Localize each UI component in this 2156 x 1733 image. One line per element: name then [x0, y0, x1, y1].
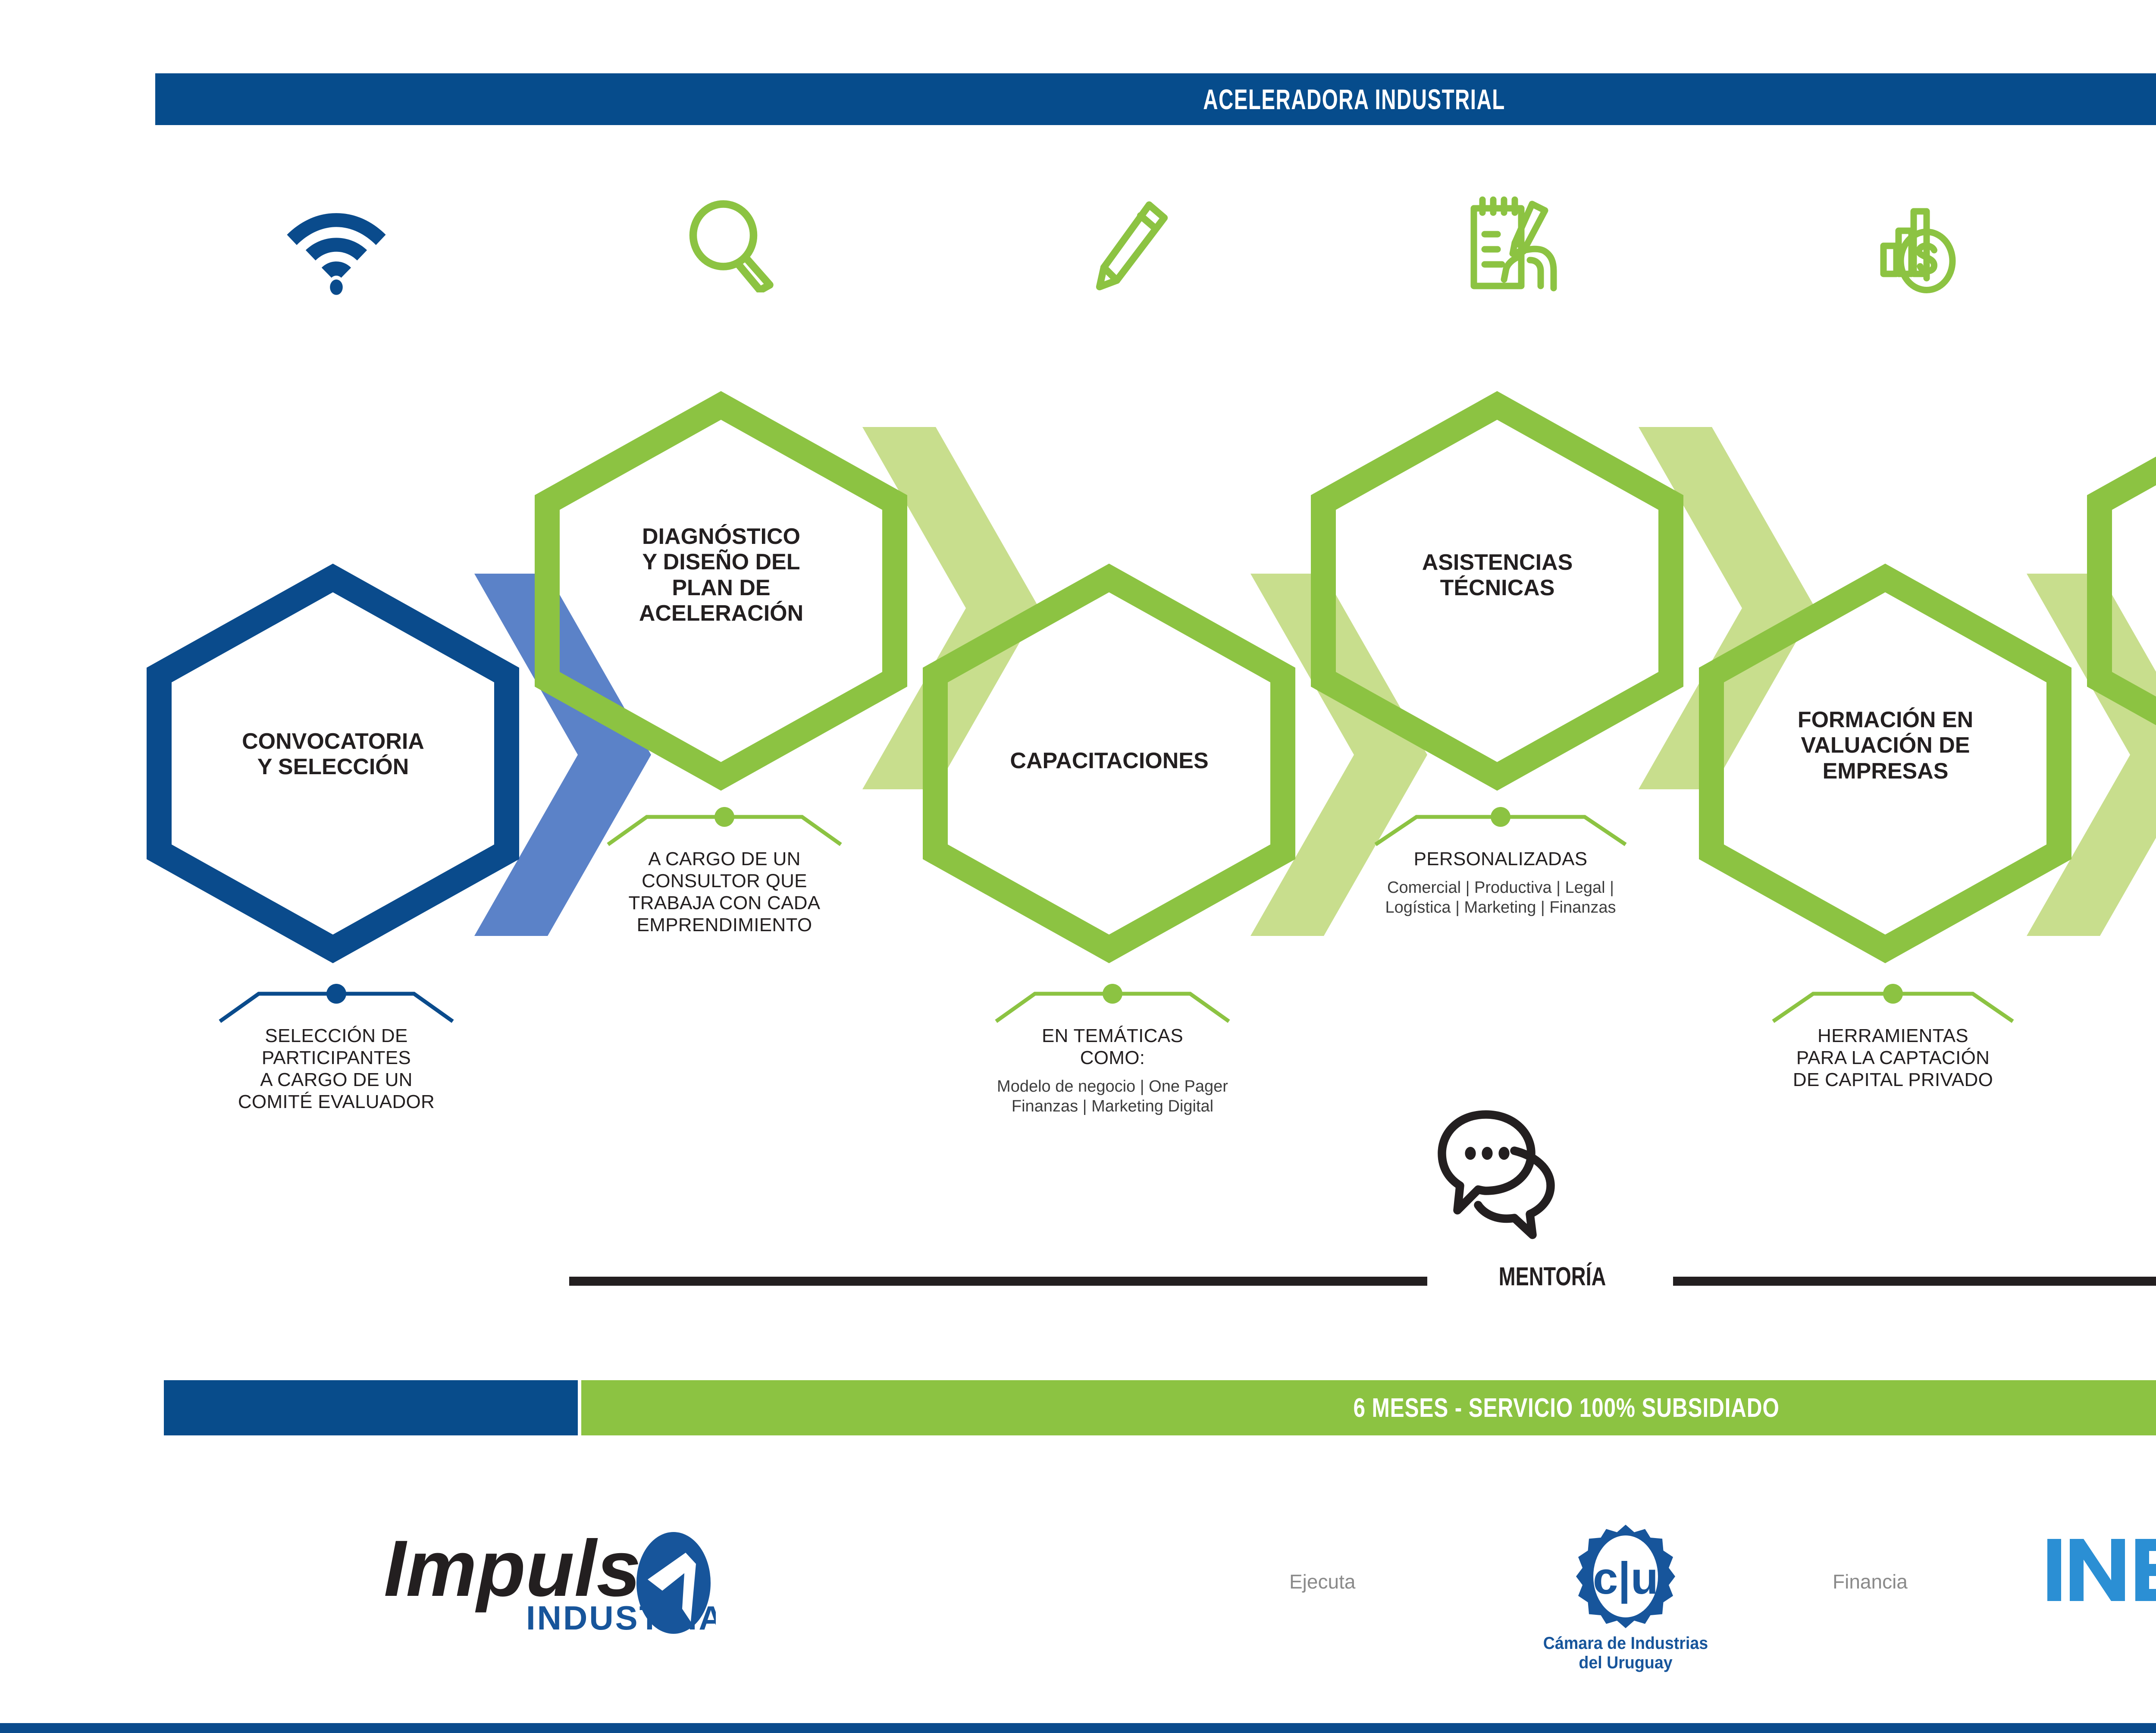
inefop-logo [2044, 1527, 2156, 1615]
mentoria-rule-left [569, 1277, 1427, 1286]
hex-step-convocatoria[interactable]: CONVOCATORIAY SELECCIÓN [153, 574, 513, 953]
caption-bracket-5 [1742, 988, 2044, 1022]
financia-label: Financia [1833, 1570, 1908, 1593]
ciu-logo: c|u Cámara de Industriasdel Uruguay [1492, 1523, 1759, 1673]
page-title: ACELERADORA INDUSTRIAL [1203, 83, 1505, 116]
banner-green-block: 6 MESES - SERVICIO 100% SUBSIDIADO [581, 1380, 2156, 1435]
hex-label-convocatoria: CONVOCATORIAY SELECCIÓN [153, 729, 513, 780]
hex-step-connection-day[interactable]: CONNECTIONDAY [2093, 401, 2156, 781]
caption-sub-4: Comercial | Productiva | Legal |Logístic… [1341, 878, 1660, 918]
hex-step-asistencias[interactable]: ASISTENCIASTÉCNICAS [1317, 401, 1677, 781]
hex-label-diagnostico: DIAGNÓSTICOY DISEÑO DELPLAN DEACELERACIÓ… [541, 524, 901, 626]
caption-connection-day: PRESENTACIÓNDE PITCHES YDIFUSIÓN DEONE P… [2130, 811, 2156, 936]
impulsa-logo: Impulsa INDUSTRIA [384, 1510, 716, 1650]
banner-text: 6 MESES - SERVICIO 100% SUBSIDIADO [1354, 1393, 1780, 1423]
banner-blue-block [164, 1380, 578, 1435]
caption-diagnostico: A CARGO DE UNCONSULTOR QUETRABAJA CON CA… [578, 811, 871, 936]
caption-bracket-2 [578, 811, 871, 845]
caption-bracket-4 [1341, 811, 1660, 845]
hex-label-capacitaciones: CAPACITACIONES [929, 748, 1289, 774]
header-bar: ACELERADORA INDUSTRIAL [155, 73, 2156, 125]
caption-title-6: PRESENTACIÓNDE PITCHES YDIFUSIÓN DEONE P… [2130, 848, 2156, 936]
pencil-icon [1056, 181, 1203, 311]
mentoria-section: MENTORÍA [569, 1104, 2156, 1328]
caption-title-1: SELECCIÓN DEPARTICIPANTESA CARGO DE UNCO… [190, 1025, 483, 1113]
hex-step-diagnostico[interactable]: DIAGNÓSTICOY DISEÑO DELPLAN DEACELERACIÓ… [541, 401, 901, 781]
caption-bracket-1 [190, 988, 483, 1022]
hex-label-connection-day: CONNECTIONDAY [2093, 550, 2156, 601]
caption-asistencias: PERSONALIZADAS Comercial | Productiva | … [1341, 811, 1660, 918]
ejecuta-label: Ejecuta [1289, 1570, 1355, 1593]
magnifier-icon [660, 181, 806, 311]
caption-bracket-3 [966, 988, 1259, 1022]
hex-step-capacitaciones[interactable]: CAPACITACIONES [929, 574, 1289, 953]
caption-capacitaciones: EN TEMÁTICASCOMO: Modelo de negocio | On… [966, 988, 1259, 1117]
caption-bracket-6 [2130, 811, 2156, 845]
wifi-icon [263, 185, 410, 315]
hex-label-asistencias: ASISTENCIASTÉCNICAS [1317, 550, 1677, 601]
caption-title-3: EN TEMÁTICASCOMO: [966, 1025, 1259, 1069]
ciu-name: Cámara de Industriasdel Uruguay [1500, 1634, 1752, 1673]
svg-text:c|u: c|u [1593, 1553, 1658, 1604]
speech-bubbles-icon [1432, 1104, 1574, 1249]
bar-chart-dollar-icon [1850, 181, 1996, 311]
footer-strip [0, 1723, 2156, 1733]
caption-formacion: HERRAMIENTASPARA LA CAPTACIÓNDE CAPITAL … [1742, 988, 2044, 1091]
mentoria-rule-right [1673, 1277, 2156, 1286]
caption-convocatoria: SELECCIÓN DEPARTICIPANTESA CARGO DE UNCO… [190, 988, 483, 1113]
mentoria-label: MENTORÍA [1458, 1262, 1647, 1291]
caption-title-2: A CARGO DE UNCONSULTOR QUETRABAJA CON CA… [578, 848, 871, 936]
hex-label-formacion: FORMACIÓN ENVALUACIÓN DEEMPRESAS [1705, 707, 2065, 784]
hex-step-formacion[interactable]: FORMACIÓN ENVALUACIÓN DEEMPRESAS [1705, 574, 2065, 953]
caption-title-4: PERSONALIZADAS [1341, 848, 1660, 870]
notepad-hand-icon [1445, 179, 1591, 308]
caption-title-5: HERRAMIENTASPARA LA CAPTACIÓNDE CAPITAL … [1742, 1025, 2044, 1091]
